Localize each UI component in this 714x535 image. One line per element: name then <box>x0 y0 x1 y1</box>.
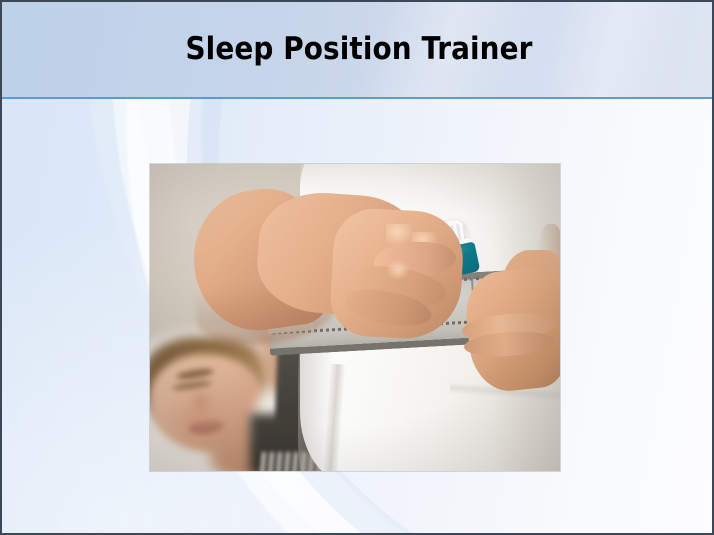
slide-body <box>2 99 714 535</box>
page-title: Sleep Position Trainer <box>2 2 714 97</box>
sleep-position-trainer-photo <box>150 164 560 471</box>
photo-vignette <box>150 164 560 471</box>
slide-title-bar: Sleep Position Trainer <box>2 2 714 97</box>
slide: Sleep Position Trainer <box>0 0 714 535</box>
